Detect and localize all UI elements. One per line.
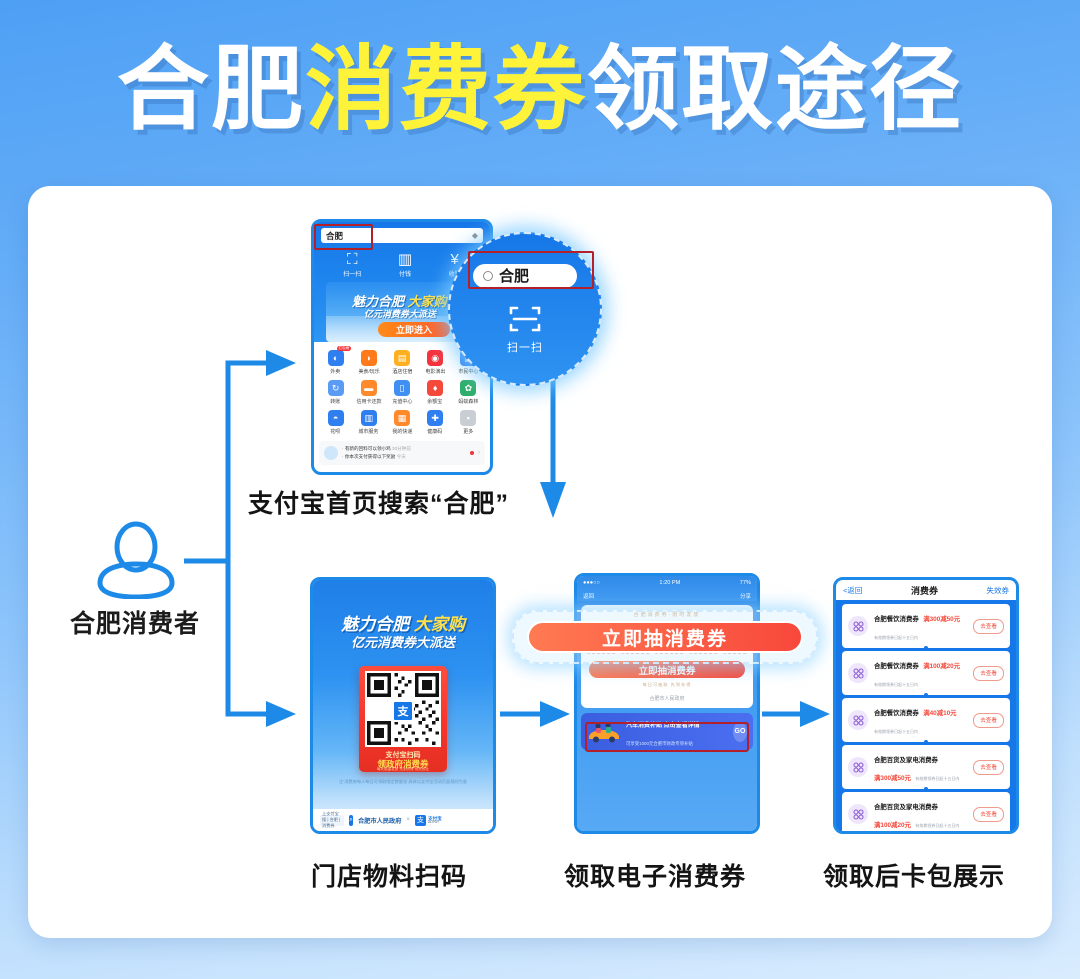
infographic-page: 合肥消费券领取途径 合肥消费者 [0,0,1080,979]
search-highlight-box [314,224,373,250]
app-tile-label: 市民中心 [458,368,478,375]
app-tile-label: 花呗 [331,428,341,435]
coupon-validity: 有效期领券日起十五日内 [874,682,918,687]
magnified-draw-button[interactable]: 立即抽消费券 [527,621,803,653]
search-icon[interactable]: ⌕ [349,815,353,826]
app-tile-label: 美食/玩乐 [358,368,379,375]
title-highlight: 消费券 [305,39,587,141]
row-notch [924,787,928,791]
app-tile-express[interactable]: ▦ 我的快递 [385,410,418,435]
poster-gov-name: 合肥市人民政府 [358,816,401,825]
quick-action-label: 扫一扫 [343,269,361,278]
nav-bar: 返回 分享 [577,590,757,601]
app-tile-label: 转账 [331,398,341,405]
tile-badge: 红包雨 [337,346,352,351]
app-tile-label: 电影演出 [425,368,445,375]
coupon-name: 合肥餐饮消费券 [874,663,919,670]
wallet-coupon-row[interactable]: 合肥百货及家电消费券 满300减50元 有效期领券日起十五日内 去查看 [842,745,1010,789]
unread-dot [470,451,474,455]
coupon-validity: 有效期领券日起十五日内 [915,776,959,781]
app-tile-yuebao[interactable]: ♦ 余额宝 [419,380,452,405]
magnified-draw-button-callout: 立即抽消费券 [512,610,818,664]
app-tile-label: 充值中心 [392,398,412,405]
poster-brand: 支 支付宝 ALIPAY [415,695,486,834]
microphone-icon[interactable]: ◆ [472,231,478,240]
status-bar: ●●●○○ 1:20 PM 77% [577,576,757,590]
store-poster[interactable]: 魅力合肥 大家购 亿元消费券大派送 [310,577,496,834]
app-tile-transfer[interactable]: ↻ 转账 [319,380,352,405]
title-part2: 领取途径 [587,39,963,141]
transfer-icon: ↻ [328,380,344,396]
coupon-validity: 有效期领券日起十五日内 [874,729,918,734]
alipay-logo-icon: 支 [392,700,414,722]
coupon-value: 满300减50元 [923,616,960,623]
coupon-wallet-screen[interactable]: <返回 消费券 失效券 合肥餐饮消费券 满300减50元 有效期领券日起十五日内… [833,577,1019,834]
app-tile-credit-repay[interactable]: ▬ 信用卡还款 [352,380,385,405]
app-tile-food[interactable]: ◗ 美食/玩乐 [352,350,385,375]
wallet-header: <返回 消费券 失效券 [836,580,1016,600]
wallet-coupon-row[interactable]: 合肥餐饮消费券 满40减10元 有效期领券日起十五日内 去查看 [842,698,1010,742]
phone-topup-icon: ▯ [394,380,410,396]
actor-label: 合肥消费者 [40,604,230,640]
app-tile-label: 余额宝 [428,398,443,405]
caption-scan-step: 门店物料扫码 [311,857,467,893]
health-code-icon: ✚ [427,410,443,426]
status-time: 1:20 PM [600,580,740,586]
gov-note: 合肥市人民政府 [586,695,748,702]
app-tile-label: 蚂蚁森林 [458,398,478,405]
app-tile-health-code[interactable]: ✚ 健康码 [419,410,452,435]
app-tile-ant-forest[interactable]: ✿ 蚂蚁森林 [452,380,485,405]
poster-line2: 亿元消费券大派送 [313,632,493,651]
app-tile-topup[interactable]: ▯ 充值中心 [385,380,418,405]
app-tile-label: 健康码 [428,428,443,435]
huabei-icon: ◓ [328,410,344,426]
app-tile-label: 酒店住宿 [392,368,412,375]
banner-line2: 亿元消费券大派送 [364,307,436,320]
express-icon: ▦ [394,410,410,426]
coupon-value: 满100减20元 [874,822,911,829]
title-part1: 合肥 [117,39,305,141]
poster-footer: 上支付宝搜 | 合肥 | 消费券 ⌕ 合肥市人民政府 × 支 支付宝 ALIPA… [313,809,493,831]
poster-search-text: 上支付宝搜 | 合肥 | 消费券 [322,811,342,829]
coupon-view-button[interactable]: 去查看 [973,807,1004,822]
magnified-scan-action[interactable]: 扫一扫 [507,304,543,355]
yuebao-icon: ♦ [427,380,443,396]
times-symbol: × [406,817,410,823]
wallet-title: 消费券 [862,584,986,597]
coupon-badge-icon [848,804,868,824]
wallet-back-button[interactable]: <返回 [843,585,862,596]
alipay-news-card[interactable]: · 有新的回料可以领小鸡 30分钟前 · 你本次支付获得以下奖励 今天 › [319,441,485,465]
coupon-value: 满100减20元 [923,663,960,670]
coupon-value: 满40减10元 [923,710,956,717]
caption-claim-step: 领取电子消费券 [564,857,746,893]
quick-action-pay[interactable]: ▥ 付钱 [398,252,412,278]
chevron-right-icon[interactable]: › [478,450,480,456]
poster-search-hint: 上支付宝搜 | 合肥 | 消费券 [320,815,344,826]
movie-icon: ◉ [427,350,443,366]
quick-action-scan[interactable]: ⛶ 扫一扫 [343,252,361,278]
wallet-coupon-row[interactable]: 合肥餐饮消费券 满100减20元 有效期领券日起十五日内 去查看 [842,651,1010,695]
app-tile-city-service[interactable]: ▥ 城市服务 [352,410,385,435]
draw-subnote: 每日可抽取 先到先得 [586,682,748,688]
wallet-expired-tab[interactable]: 失效券 [987,585,1010,596]
app-tile-more[interactable]: ▪ 更多 [452,410,485,435]
person-icon [86,521,186,599]
wallet-coupon-row[interactable]: 合肥餐饮消费券 满300减50元 有效期领券日起十五日内 去查看 [842,604,1010,648]
wallet-coupon-row[interactable]: 合肥百货及家电消费券 满100减20元 有效期领券日起十五日内 去查看 [842,792,1010,834]
coupon-view-button[interactable]: 去查看 [973,760,1004,775]
scan-icon: ⛶ [347,252,358,267]
app-tile-label: 城市服务 [359,428,379,435]
coupon-badge-icon [848,710,868,730]
brand-sub: ALIPAY [428,821,442,825]
battery-label: 77% [740,580,751,586]
caption-search-step: 支付宝首页搜索“合肥” [248,484,509,520]
share-button[interactable]: 分享 [740,592,751,600]
news-time: 30分钟前 [392,446,411,451]
food-icon: ◗ [361,350,377,366]
news-time: 今天 [397,454,406,459]
ant-forest-icon: ✿ [460,380,476,396]
coupon-view-button[interactable]: 去查看 [973,666,1004,681]
ant-avatar-icon [324,446,338,460]
row-notch [924,740,928,744]
takeout-icon: ◐红包雨 [328,350,344,366]
row-notch [924,646,928,650]
coupon-name: 合肥餐饮消费券 [874,616,919,623]
caption-wallet-step: 领取后卡包展示 [823,857,1005,893]
scan-label: 扫一扫 [507,339,543,355]
coupon-name: 合肥餐饮消费券 [874,710,919,717]
pay-icon: ▥ [398,252,412,267]
hotel-icon: ▤ [394,350,410,366]
coupon-validity: 有效期领券日起十五日内 [915,823,959,828]
signal-icon: ●●●○○ [583,580,600,586]
more-icon: ▪ [460,410,476,426]
coupon-badge-icon [848,663,868,683]
page-title: 合肥消费券领取途径 [0,44,1080,136]
credit-card-icon: ▬ [361,380,377,396]
city-service-icon: ▥ [361,410,377,426]
app-tile-huabei[interactable]: ◓ 花呗 [319,410,352,435]
app-tile-label: 外卖 [331,368,341,375]
quick-action-label: 付钱 [399,269,411,278]
app-tile-hotel[interactable]: ▤ 酒店住宿 [385,350,418,375]
alipay-logo-icon: 支 [415,815,426,826]
news-text: 有新的回料可以领小鸡 [345,446,391,451]
draw-button-highlight-box [585,722,749,752]
app-tile-label: 更多 [463,428,473,435]
app-tile-waimai[interactable]: ◐红包雨 外卖 [319,350,352,375]
app-tile-movie[interactable]: ◉ 电影演出 [419,350,452,375]
scan-icon [508,304,542,334]
news-text: 你本次支付获得以下奖励 [345,454,396,459]
banner-enter-button[interactable]: 立即进入 [378,322,450,337]
coupon-value: 满300减50元 [874,775,911,782]
receive-icon: ¥ [451,252,459,267]
wallet-coupon-list: 合肥餐饮消费券 满300减50元 有效期领券日起十五日内 去查看 合肥餐饮消费券… [836,600,1016,834]
row-notch [924,693,928,697]
coupon-name: 合肥百货及家电消费券 [874,757,938,764]
coupon-view-button[interactable]: 去查看 [973,619,1004,634]
coupon-badge-icon [848,757,868,777]
app-tile-label: 我的快递 [392,428,412,435]
coupon-badge-icon [848,616,868,636]
coupon-name: 合肥百货及家电消费券 [874,804,938,811]
coupon-view-button[interactable]: 去查看 [973,713,1004,728]
back-button[interactable]: 返回 [583,592,594,600]
magnified-search-highlight-box [468,251,594,289]
coupon-validity: 有效期领券日起十五日内 [874,635,918,640]
app-tile-label: 信用卡还款 [356,398,381,405]
